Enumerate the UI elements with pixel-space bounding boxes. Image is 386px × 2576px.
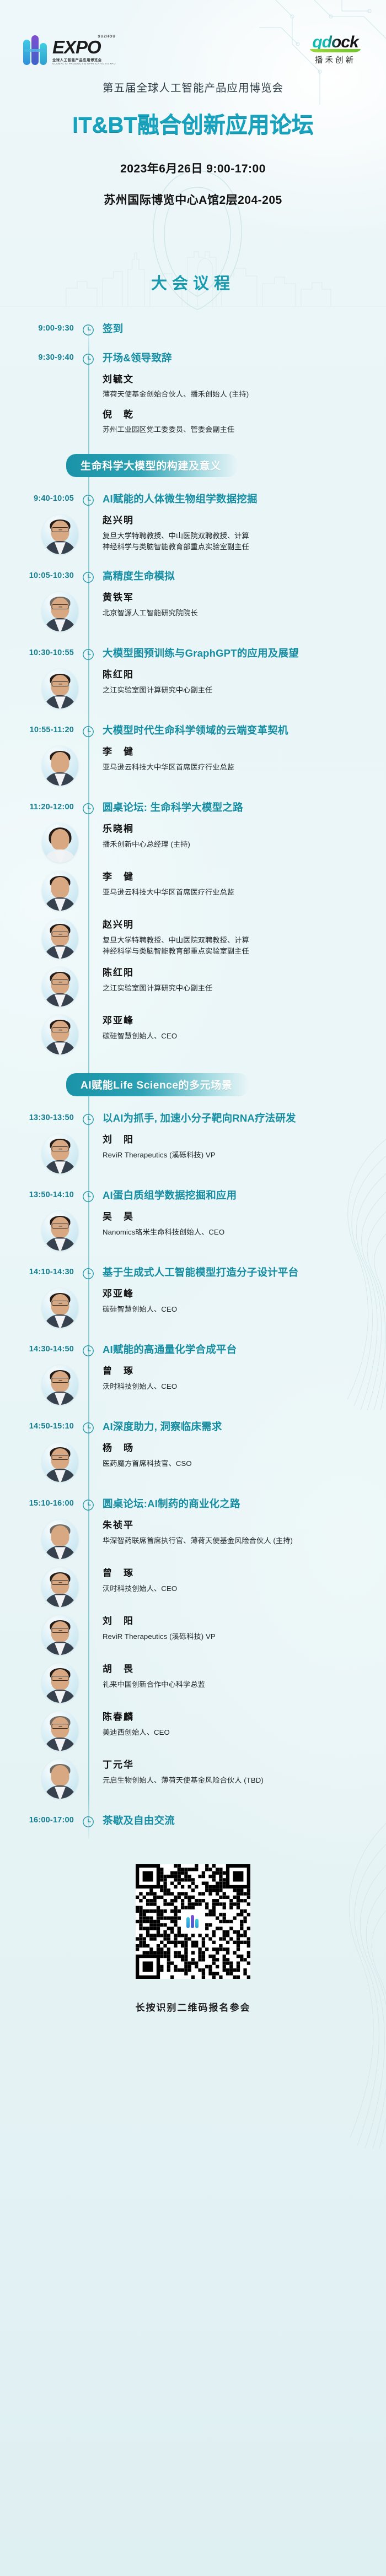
speaker-avatar-column (0, 823, 103, 863)
speaker-row: 杨 旸医药魔方首席科技官、CSO (0, 1442, 386, 1482)
agenda-session-row[interactable]: 10:05-10:30高精度生命模拟 (0, 569, 386, 583)
speaker-name: 黄铁军 (103, 592, 372, 603)
session-time: 14:10-14:30 (0, 1265, 74, 1280)
clock-icon (74, 1813, 103, 1828)
speaker-avatar (42, 746, 78, 786)
speaker-org: 复旦大学特聘教授、中山医院双聘教授、计算神经科学与类脑智能教育部重点实验室副主任 (103, 531, 372, 553)
agenda-section-banner: AI赋能Life Science的多元场景 (0, 1073, 386, 1096)
speaker-avatar (42, 1567, 78, 1607)
speaker-avatar (42, 592, 78, 631)
speaker-name: 胡 畏 (103, 1663, 372, 1675)
speaker-name: 陈红阳 (103, 669, 372, 680)
clock-icon (74, 491, 103, 506)
speaker-name: 李 健 (103, 746, 372, 757)
agenda-session-row[interactable]: 14:30-14:50AI赋能的高通量化学合成平台 (0, 1342, 386, 1357)
session-time: 9:00-9:30 (0, 321, 74, 336)
agenda-section-banner: 生命科学大模型的构建及意义 (0, 454, 386, 477)
speaker-row: 李 健亚马逊云科技大中华区首席医疗行业总监 (0, 871, 386, 911)
speaker-avatar-column (0, 746, 103, 786)
speaker-avatar (42, 1663, 78, 1703)
speaker-info: 刘 阳ReviR Therapeutics (溪砾科技) VP (103, 1615, 386, 1642)
speaker-name: 邓亚峰 (103, 1288, 372, 1300)
speaker-name: 曾 琢 (103, 1365, 372, 1377)
speaker-row: 胡 畏礼来中国创新合作中心科学总监 (0, 1663, 386, 1703)
session-title: 开场&领导致辞 (103, 350, 386, 365)
qr-center-ai-logo-icon (184, 1912, 202, 1931)
speaker-info: 赵兴明复旦大学特聘教授、中山医院双聘教授、计算神经科学与类脑智能教育部重点实验室… (103, 919, 386, 957)
ai-mark-icon (23, 35, 49, 65)
speaker-info: 李 健亚马逊云科技大中华区首席医疗行业总监 (103, 746, 386, 773)
clock-icon (74, 646, 103, 661)
speaker-avatar-column (0, 592, 103, 631)
speaker-name: 刘毓文 (103, 374, 372, 385)
ai-expo-logo: SUZHOU EXPO 全球人工智能产品应用博览会 GLOBAL AI PROD… (23, 35, 116, 65)
speaker-avatar (42, 1015, 78, 1054)
session-title: 圆桌论坛: 生命科学大模型之路 (103, 800, 386, 815)
agenda-session-row[interactable]: 15:10-16:00圆桌论坛:AI制药的商业化之路 (0, 1496, 386, 1511)
speaker-avatar (42, 1759, 78, 1799)
speaker-avatar (42, 1442, 78, 1482)
speaker-avatar-column (0, 669, 103, 708)
speaker-info: 赵兴明复旦大学特聘教授、中山医院双聘教授、计算神经科学与类脑智能教育部重点实验室… (103, 515, 386, 553)
speaker-org: 播禾创新中心总经理 (主持) (103, 839, 372, 850)
speaker-name: 李 健 (103, 871, 372, 883)
speaker-info: 陈红阳之江实验室图计算研究中心副主任 (103, 669, 386, 696)
speaker-row: 刘毓文薄荷天使基金创始合伙人、播禾创始人 (主持) (0, 374, 386, 401)
session-title: 茶歇及自由交流 (103, 1813, 386, 1828)
clock-icon (74, 350, 103, 365)
speaker-row: 邓亚峰碳硅智慧创始人、CEO (0, 1288, 386, 1328)
speaker-org: 华深智药联席首席执行官、薄荷天使基金风险合伙人 (主持) (103, 1535, 372, 1546)
speaker-row: 李 健亚马逊云科技大中华区首席医疗行业总监 (0, 746, 386, 786)
qdock-logo: qdock 播禾创新 (310, 34, 361, 66)
agenda-section-banner-label: AI赋能Life Science的多元场景 (66, 1073, 249, 1096)
speaker-org: 医药魔方首席科技官、CSO (103, 1458, 372, 1469)
session-title: 大模型时代生命科学领域的云端变革契机 (103, 723, 386, 738)
speaker-name: 吴 昊 (103, 1211, 372, 1222)
speaker-row: 赵兴明复旦大学特聘教授、中山医院双聘教授、计算神经科学与类脑智能教育部重点实验室… (0, 919, 386, 959)
speaker-info: 刘 阳ReviR Therapeutics (溪砾科技) VP (103, 1134, 386, 1161)
agenda-timeline: 9:00-9:30签到9:30-9:40开场&领导致辞刘毓文薄荷天使基金创始合伙… (0, 321, 386, 1850)
speaker-avatar-column (0, 919, 103, 959)
session-title: AI蛋白质组学数据挖掘和应用 (103, 1188, 386, 1203)
clock-icon (74, 1496, 103, 1511)
session-title: AI深度助力, 洞察临床需求 (103, 1419, 386, 1434)
speaker-avatar-column (0, 1134, 103, 1173)
speaker-org: 美迪西创始人、CEO (103, 1727, 372, 1738)
speaker-info: 曾 琢沃时科技创始人、CEO (103, 1567, 386, 1594)
speaker-org: 复旦大学特聘教授、中山医院双聘教授、计算神经科学与类脑智能教育部重点实验室副主任 (103, 935, 372, 957)
speaker-org: ReviR Therapeutics (溪砾科技) VP (103, 1631, 372, 1642)
speaker-org: 北京智源人工智能研究院院长 (103, 608, 372, 619)
speaker-row: 邓亚峰碳硅智慧创始人、CEO (0, 1015, 386, 1054)
agenda-heading-block: 大会议程 (0, 247, 386, 307)
speaker-row: 乐晓桐播禾创新中心总经理 (主持) (0, 823, 386, 863)
speaker-org: 之江实验室图计算研究中心副主任 (103, 685, 372, 696)
page-title: IT&BT融合创新应用论坛 (0, 107, 386, 139)
speaker-avatar-column (0, 1759, 103, 1799)
clock-icon (74, 1342, 103, 1357)
speaker-name: 曾 琢 (103, 1567, 372, 1579)
speaker-info: 胡 畏礼来中国创新合作中心科学总监 (103, 1663, 386, 1690)
speaker-name: 丁元华 (103, 1759, 372, 1771)
speaker-org: 亚马逊云科技大中华区首席医疗行业总监 (103, 762, 372, 773)
session-time: 16:00-17:00 (0, 1813, 74, 1828)
speaker-info: 陈春麟美迪西创始人、CEO (103, 1711, 386, 1738)
speaker-row: 倪 乾苏州工业园区党工委委员、管委会副主任 (0, 409, 386, 436)
session-time: 10:05-10:30 (0, 569, 74, 583)
session-title: 以AI为抓手, 加速小分子靶向RNA疗法研发 (103, 1111, 386, 1125)
session-time: 14:50-15:10 (0, 1419, 74, 1434)
speaker-name: 陈红阳 (103, 967, 372, 978)
speaker-row: 陈红阳之江实验室图计算研究中心副主任 (0, 669, 386, 708)
speaker-avatar (42, 1288, 78, 1328)
speaker-avatar (42, 1711, 78, 1751)
speaker-name: 赵兴明 (103, 919, 372, 930)
speaker-avatar-column (0, 1567, 103, 1607)
session-title: 签到 (103, 321, 386, 336)
speaker-avatar-column (0, 1365, 103, 1405)
session-time: 9:30-9:40 (0, 350, 74, 365)
speaker-org: 沃时科技创始人、CEO (103, 1381, 372, 1392)
speaker-org: Nanomics珞米生命科技创始人、CEO (103, 1227, 372, 1238)
speaker-avatar-column (0, 1015, 103, 1054)
speaker-avatar (42, 1365, 78, 1405)
speaker-avatar-column (0, 1442, 103, 1482)
speaker-row: 曾 琢沃时科技创始人、CEO (0, 1365, 386, 1405)
speaker-org: 苏州工业园区党工委委员、管委会副主任 (103, 424, 372, 435)
event-venue: 苏州国际博览中心A馆2层204-205 (0, 191, 386, 208)
session-title: 圆桌论坛:AI制药的商业化之路 (103, 1496, 386, 1511)
agenda-session-row[interactable]: 9:00-9:30签到 (0, 321, 386, 336)
speaker-avatar (42, 1615, 78, 1655)
speaker-row: 陈红阳之江实验室图计算研究中心副主任 (0, 967, 386, 1006)
session-time: 10:30-10:55 (0, 646, 74, 661)
speaker-avatar (42, 871, 78, 911)
session-time: 10:55-11:20 (0, 723, 74, 738)
clock-icon (74, 1265, 103, 1280)
event-datetime: 2023年6月26日 9:00-17:00 (0, 160, 386, 176)
speaker-org: 之江实验室图计算研究中心副主任 (103, 983, 372, 994)
agenda-session-row[interactable]: 13:50-14:10AI蛋白质组学数据挖掘和应用 (0, 1188, 386, 1203)
agenda-session-row[interactable]: 16:00-17:00茶歇及自由交流 (0, 1813, 386, 1828)
clock-icon (74, 1188, 103, 1203)
session-title: 高精度生命模拟 (103, 569, 386, 583)
session-title: 大模型图预训练与GraphGPT的应用及展望 (103, 646, 386, 661)
speaker-info: 曾 琢沃时科技创始人、CEO (103, 1365, 386, 1392)
speaker-org: 元启生物创始人、薄荷天使基金风险合伙人 (TBD) (103, 1775, 372, 1786)
clock-icon (74, 1111, 103, 1125)
event-meta: 2023年6月26日 9:00-17:00 苏州国际博览中心A馆2层204-20… (0, 160, 386, 208)
speaker-name: 乐晓桐 (103, 823, 372, 835)
speaker-info: 朱祯平华深智药联席首席执行官、薄荷天使基金风险合伙人 (主持) (103, 1519, 386, 1546)
speaker-row: 丁元华元启生物创始人、薄荷天使基金风险合伙人 (TBD) (0, 1759, 386, 1799)
header-logo-bar: SUZHOU EXPO 全球人工智能产品应用博览会 GLOBAL AI PROD… (0, 0, 386, 66)
speaker-info: 李 健亚马逊云科技大中华区首席医疗行业总监 (103, 871, 386, 898)
speaker-org: 薄荷天使基金创始合伙人、播禾创始人 (主持) (103, 389, 372, 400)
speaker-avatar (42, 967, 78, 1006)
clock-icon (74, 1419, 103, 1434)
speaker-row: 刘 阳ReviR Therapeutics (溪砾科技) VP (0, 1134, 386, 1173)
agenda-session-row[interactable]: 9:30-9:40开场&领导致辞 (0, 350, 386, 365)
speaker-avatar (42, 823, 78, 863)
poster-page: SUZHOU EXPO 全球人工智能产品应用博览会 GLOBAL AI PROD… (0, 0, 386, 2576)
speaker-row: 吴 昊Nanomics珞米生命科技创始人、CEO (0, 1211, 386, 1251)
agenda-session-row[interactable]: 11:20-12:00圆桌论坛: 生命科学大模型之路 (0, 800, 386, 815)
expo-en-label: GLOBAL AI PRODUCT & APPLICATION EXPO (52, 62, 116, 65)
speaker-name: 陈春麟 (103, 1711, 372, 1723)
agenda-session-row[interactable]: 9:40-10:05AI赋能的人体微生物组学数据挖掘 (0, 491, 386, 506)
speaker-row: 曾 琢沃时科技创始人、CEO (0, 1567, 386, 1607)
clock-icon (74, 800, 103, 815)
speaker-name: 刘 阳 (103, 1615, 372, 1627)
speaker-avatar (42, 669, 78, 708)
speaker-avatar-column (0, 515, 103, 554)
speaker-avatar-column (0, 967, 103, 1006)
speaker-name: 杨 旸 (103, 1442, 372, 1454)
agenda-heading: 大会议程 (0, 270, 386, 294)
speaker-info: 黄铁军北京智源人工智能研究院院长 (103, 592, 386, 619)
speaker-info: 杨 旸医药魔方首席科技官、CSO (103, 1442, 386, 1469)
speaker-avatar (42, 1211, 78, 1251)
speaker-info: 吴 昊Nanomics珞米生命科技创始人、CEO (103, 1211, 386, 1238)
speaker-avatar (42, 919, 78, 959)
speaker-info: 乐晓桐播禾创新中心总经理 (主持) (103, 823, 386, 850)
expo-cn-label: 全球人工智能产品应用博览会 (52, 57, 116, 62)
speaker-avatar-column (0, 871, 103, 911)
agenda-section-banner-label: 生命科学大模型的构建及意义 (66, 454, 238, 477)
speaker-info: 倪 乾苏州工业园区党工委委员、管委会副主任 (103, 409, 386, 436)
session-time: 14:30-14:50 (0, 1342, 74, 1357)
speaker-name: 赵兴明 (103, 515, 372, 526)
qr-cta-label: 长按识别二维码报名参会 (0, 2000, 386, 2014)
speaker-avatar (42, 515, 78, 554)
event-subtitle: 第五届全球人工智能产品应用博览会 (0, 79, 386, 95)
session-title: AI赋能的高通量化学合成平台 (103, 1342, 386, 1357)
speaker-name: 邓亚峰 (103, 1015, 372, 1026)
speaker-row: 陈春麟美迪西创始人、CEO (0, 1711, 386, 1751)
speaker-avatar-column (0, 1615, 103, 1655)
agenda-session-row[interactable]: 10:55-11:20大模型时代生命科学领域的云端变革契机 (0, 723, 386, 738)
speaker-name: 刘 阳 (103, 1134, 372, 1145)
speaker-name: 朱祯平 (103, 1519, 372, 1531)
speaker-org: 沃时科技创始人、CEO (103, 1583, 372, 1594)
speaker-org: ReviR Therapeutics (溪砾科技) VP (103, 1150, 372, 1161)
speaker-info: 刘毓文薄荷天使基金创始合伙人、播禾创始人 (主持) (103, 374, 386, 401)
clock-icon (74, 569, 103, 583)
speaker-name: 倪 乾 (103, 409, 372, 420)
session-time: 9:40-10:05 (0, 491, 74, 506)
session-time: 15:10-16:00 (0, 1496, 74, 1511)
session-time: 11:20-12:00 (0, 800, 74, 815)
speaker-info: 陈红阳之江实验室图计算研究中心副主任 (103, 967, 386, 994)
speaker-info: 邓亚峰碳硅智慧创始人、CEO (103, 1015, 386, 1042)
speaker-row: 黄铁军北京智源人工智能研究院院长 (0, 592, 386, 631)
qdock-cn-label: 播禾创新 (310, 54, 361, 66)
session-time: 13:50-14:10 (0, 1188, 74, 1203)
clock-icon (74, 321, 103, 336)
footer-registration: 长按识别二维码报名参会 (0, 1864, 386, 2047)
speaker-row: 赵兴明复旦大学特聘教授、中山医院双聘教授、计算神经科学与类脑智能教育部重点实验室… (0, 515, 386, 554)
speaker-row: 朱祯平华深智药联席首席执行官、薄荷天使基金风险合伙人 (主持) (0, 1519, 386, 1559)
agenda-session-row[interactable]: 13:30-13:50以AI为抓手, 加速小分子靶向RNA疗法研发 (0, 1111, 386, 1125)
speaker-org: 亚马逊云科技大中华区首席医疗行业总监 (103, 887, 372, 898)
speaker-org: 礼来中国创新合作中心科学总监 (103, 1679, 372, 1690)
speaker-avatar-column (0, 1519, 103, 1559)
speaker-avatar (42, 1519, 78, 1559)
speaker-org: 碳硅智慧创始人、CEO (103, 1031, 372, 1042)
speaker-info: 邓亚峰碳硅智慧创始人、CEO (103, 1288, 386, 1315)
agenda-session-row[interactable]: 14:10-14:30基于生成式人工智能模型打造分子设计平台 (0, 1265, 386, 1280)
expo-wordmark: EXPO (52, 39, 116, 56)
session-time: 13:30-13:50 (0, 1111, 74, 1125)
agenda-session-row[interactable]: 10:30-10:55大模型图预训练与GraphGPT的应用及展望 (0, 646, 386, 661)
registration-qr-code[interactable] (136, 1864, 250, 1979)
speaker-row: 刘 阳ReviR Therapeutics (溪砾科技) VP (0, 1615, 386, 1655)
session-title: AI赋能的人体微生物组学数据挖掘 (103, 491, 386, 506)
qdock-wordmark: qdock (310, 34, 361, 51)
speaker-avatar-column (0, 1663, 103, 1703)
speaker-avatar-column (0, 1711, 103, 1751)
speaker-avatar-column (0, 1211, 103, 1251)
session-title: 基于生成式人工智能模型打造分子设计平台 (103, 1265, 386, 1280)
agenda-session-row[interactable]: 14:50-15:10AI深度助力, 洞察临床需求 (0, 1419, 386, 1434)
speaker-avatar (42, 1134, 78, 1173)
speaker-info: 丁元华元启生物创始人、薄荷天使基金风险合伙人 (TBD) (103, 1759, 386, 1786)
speaker-org: 碳硅智慧创始人、CEO (103, 1304, 372, 1315)
clock-icon (74, 723, 103, 738)
speaker-avatar-column (0, 1288, 103, 1328)
